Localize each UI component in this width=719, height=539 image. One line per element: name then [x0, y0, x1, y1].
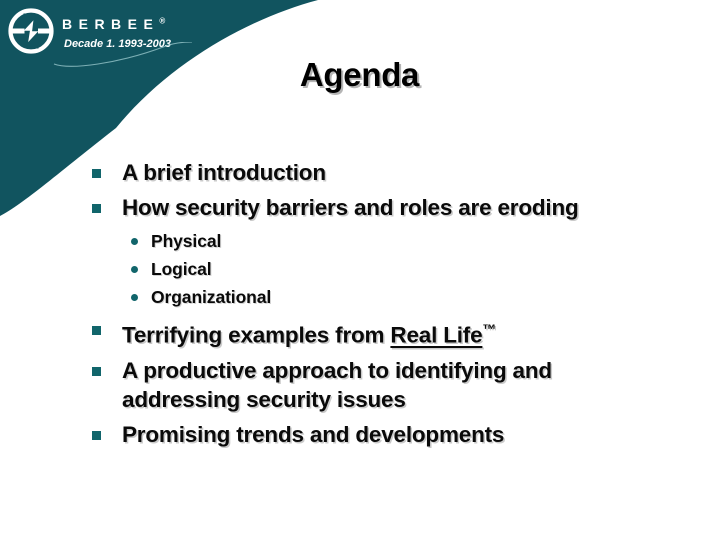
- list-item-label: A productive approach to identifying and…: [122, 356, 627, 414]
- list-item: Terrifying examples from Real Life™: [92, 315, 692, 350]
- presentation-slide: BERBEE® Decade 1. 1993-2003 Agenda A bri…: [0, 0, 719, 539]
- list-item-label: A brief introduction: [122, 158, 326, 187]
- dot-bullet-icon: [131, 294, 138, 301]
- square-bullet-icon: [92, 367, 101, 376]
- list-item-label: Organizational: [151, 284, 271, 310]
- list-item-label: Physical: [151, 228, 221, 254]
- list-item-label: Logical: [151, 256, 212, 282]
- list-item: Physical: [92, 228, 692, 254]
- list-item-label: How security barriers and roles are erod…: [122, 193, 579, 222]
- real-life-underlined-text: Real Life: [390, 323, 482, 348]
- list-item: A productive approach to identifying and…: [92, 356, 692, 414]
- list-item: Logical: [92, 256, 692, 282]
- square-bullet-icon: [92, 204, 101, 213]
- square-bullet-icon: [92, 431, 101, 440]
- dot-bullet-icon: [131, 238, 138, 245]
- brand-wordmark-text: BERBEE: [62, 16, 159, 32]
- brand-wordmark: BERBEE®: [62, 17, 165, 31]
- list-item: Promising trends and developments: [92, 420, 692, 449]
- list-item: Organizational: [92, 284, 692, 310]
- list-item: How security barriers and roles are erod…: [92, 193, 692, 222]
- agenda-sub-list: Physical Logical Organizational: [92, 228, 692, 310]
- agenda-bullet-list: A brief introduction How security barrie…: [92, 158, 692, 455]
- registered-trademark-icon: ®: [159, 16, 165, 25]
- trademark-icon: ™: [482, 315, 496, 344]
- list-item-label: Terrifying examples from Real Life™: [122, 315, 496, 350]
- list-item-label-prefix: Terrifying examples from: [122, 323, 390, 348]
- dot-bullet-icon: [131, 266, 138, 273]
- list-item: A brief introduction: [92, 158, 692, 187]
- page-title: Agenda: [0, 56, 719, 94]
- square-bullet-icon: [92, 326, 101, 335]
- list-item-label: Promising trends and developments: [122, 420, 504, 449]
- square-bullet-icon: [92, 169, 101, 178]
